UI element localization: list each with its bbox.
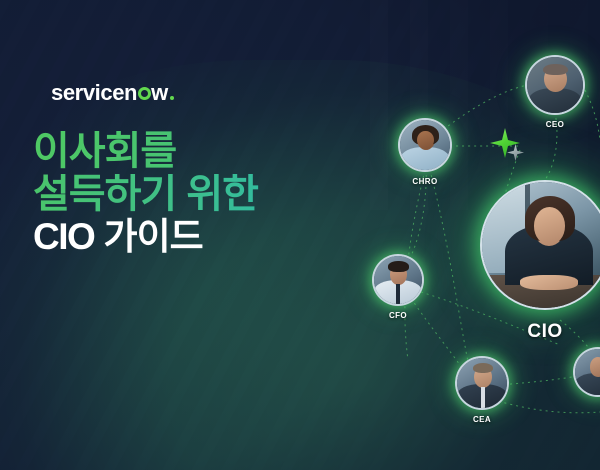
sparkle-secondary-icon	[507, 144, 524, 161]
avatar-ceo	[525, 55, 585, 115]
partial-portrait	[575, 349, 600, 395]
network-node-label-cfo: CFO	[389, 311, 407, 320]
network-node-ceo[interactable]: CEO	[525, 55, 585, 115]
avatar-cio	[480, 180, 600, 310]
network-node-chro[interactable]: CHRO	[398, 118, 452, 172]
avatar-partial	[573, 347, 600, 397]
network-node-label-chro: CHRO	[412, 177, 437, 186]
executive-network-graph: CEO CHRO	[0, 0, 600, 470]
avatar-cfo	[372, 254, 424, 306]
cio-portrait	[482, 182, 600, 308]
network-node-label-cea: CEA	[473, 415, 491, 424]
network-node-cea[interactable]: CEA	[455, 356, 509, 410]
avatar-chro	[398, 118, 452, 172]
ai-sparkle-icon	[490, 128, 524, 162]
network-node-label-cio: CIO	[527, 321, 562, 343]
cfo-portrait	[374, 256, 422, 304]
ceo-portrait	[527, 57, 583, 113]
network-node-cfo[interactable]: CFO	[372, 254, 424, 306]
avatar-cea	[455, 356, 509, 410]
cea-portrait	[457, 358, 507, 408]
network-node-cio[interactable]: CIO	[480, 180, 600, 310]
promo-banner: servicen w 이사회를 설득하기 위한 CIO 가이드	[0, 0, 600, 470]
chro-portrait	[400, 120, 450, 170]
network-node-label-ceo: CEO	[546, 120, 565, 129]
network-node-partial-right[interactable]	[573, 347, 600, 397]
